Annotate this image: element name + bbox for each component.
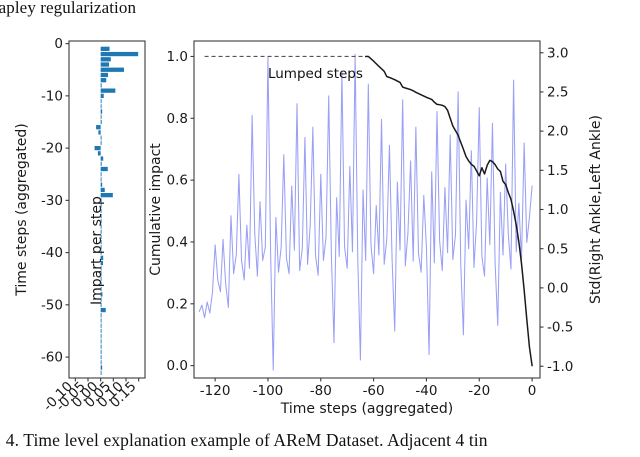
right-y-ticklabel-right: 0.0 <box>547 280 568 296</box>
impact-bar <box>101 360 102 364</box>
figure-canvas: 0-10-20-30-40-50-60-0.10-0.050.000.050.1… <box>0 0 640 420</box>
impact-bar <box>101 334 102 338</box>
left-y-ticklabel: -50 <box>41 297 63 313</box>
impact-bar <box>101 99 102 103</box>
impact-bar <box>101 318 102 322</box>
left-y-axis-label: Time steps (aggregated) <box>14 123 30 297</box>
left-y-ticklabel: -30 <box>41 193 63 209</box>
impact-bar <box>101 104 102 108</box>
right-x-ticklabel: 0 <box>528 383 537 399</box>
impact-bar <box>101 83 102 87</box>
impact-bar <box>101 57 111 61</box>
right-x-ticklabel: -60 <box>363 383 385 399</box>
impact-bar <box>101 313 102 317</box>
impact-bar <box>101 62 109 66</box>
impact-per-step-inline-label: Impart per step <box>89 196 105 305</box>
left-y-ticklabel: -40 <box>41 245 63 261</box>
right-y-ticklabel-right: 2.5 <box>547 85 568 101</box>
impact-bar <box>101 88 116 92</box>
right-y-ticklabel-right: 1.5 <box>547 163 568 179</box>
right-y-axis-label-left: Cumulative impact <box>148 143 164 276</box>
impact-bar <box>101 136 102 140</box>
right-y-ticklabel-left: 0.4 <box>167 235 188 251</box>
impact-bar <box>101 120 102 124</box>
impact-bar <box>101 345 102 349</box>
right-y-ticklabel-left: 0.0 <box>167 358 188 374</box>
right-x-axis-label: Time steps (aggregated) <box>280 401 454 417</box>
left-y-ticklabel: -20 <box>41 141 63 157</box>
impact-bar <box>101 94 104 98</box>
impact-bar <box>101 141 102 145</box>
left-y-ticklabel: -10 <box>41 88 63 104</box>
impact-bar <box>101 167 108 171</box>
impact-bar <box>101 339 102 343</box>
impact-bar <box>101 78 107 82</box>
impact-bar <box>101 188 105 192</box>
impact-bar <box>98 130 100 134</box>
impact-bar <box>101 371 102 375</box>
impact-bar <box>98 151 101 155</box>
right-y-ticklabel-left: 0.8 <box>167 111 188 127</box>
right-y-ticklabel-right: -1.0 <box>547 359 573 375</box>
lumped-steps-annotation: Lumped steps <box>268 66 363 82</box>
right-subplot: Lumped steps-120-100-80-60-40-2000.00.20… <box>148 41 604 417</box>
impact-bar <box>101 109 103 113</box>
impact-bar <box>101 183 103 187</box>
impact-bar <box>101 73 108 77</box>
impact-bar <box>101 68 124 72</box>
right-y-ticklabel-right: 0.5 <box>547 241 568 257</box>
right-y-ticklabel-left: 0.2 <box>167 296 188 312</box>
right-y-ticklabel-right: -0.5 <box>547 320 573 336</box>
impact-bar <box>101 47 110 51</box>
impact-bar <box>101 115 102 119</box>
impact-bar <box>101 177 102 181</box>
left-y-ticklabel: 0 <box>54 36 63 52</box>
left-y-ticklabel: -60 <box>41 350 63 366</box>
impact-bar <box>96 125 101 129</box>
impact-bar <box>101 172 102 176</box>
impact-bar <box>101 156 104 160</box>
impact-bar <box>101 308 106 312</box>
right-y-ticklabel-right: 3.0 <box>547 45 568 61</box>
right-x-ticklabel: -20 <box>468 383 490 399</box>
impact-bar <box>101 329 102 333</box>
right-x-ticklabel: -80 <box>310 383 332 399</box>
right-y-ticklabel-right: 2.0 <box>547 124 568 140</box>
figure-caption-text: g. 4. Time level explanation example of … <box>0 430 488 451</box>
impact-bar <box>101 365 103 369</box>
right-y-ticklabel-left: 0.6 <box>167 173 188 189</box>
impact-bar <box>101 355 102 359</box>
right-y-axis-label-right: Std(Right Ankle,Left Ankle) <box>588 115 604 304</box>
left-subplot: 0-10-20-30-40-50-60-0.10-0.050.000.050.1… <box>14 36 145 414</box>
impact-bar <box>95 146 101 150</box>
right-x-ticklabel: -120 <box>200 383 231 399</box>
right-y-ticklabel-right: 1.0 <box>547 202 568 218</box>
impact-bar <box>101 350 102 354</box>
impact-bar <box>101 52 138 56</box>
right-x-ticklabel: -40 <box>415 383 437 399</box>
impact-bar <box>101 162 102 166</box>
figure-page: hapley regularization 0-10-20-30-40-50-6… <box>0 0 640 457</box>
impact-bar <box>101 324 102 328</box>
right-x-ticklabel: -100 <box>253 383 284 399</box>
right-y-ticklabel-left: 1.0 <box>167 49 188 65</box>
